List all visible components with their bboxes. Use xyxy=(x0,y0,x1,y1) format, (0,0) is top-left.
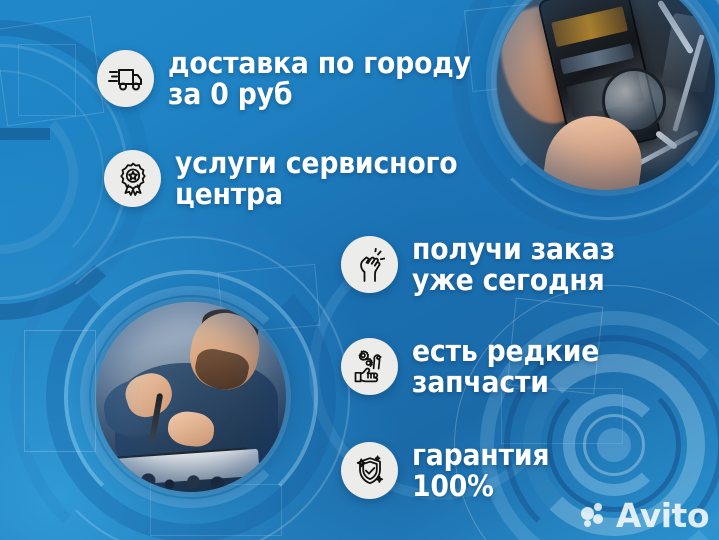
service-promo-banner: доставка по городу за 0 руб услуги серви… xyxy=(0,0,719,540)
background-square-top-left-2 xyxy=(18,44,76,116)
feature-same-day: получи заказ уже сегодня xyxy=(341,234,633,295)
feature-service-center-label: услуги сервисного центра xyxy=(175,148,457,209)
avito-watermark: Avito xyxy=(581,499,709,532)
feature-service-center: услуги сервисного центра xyxy=(104,148,482,209)
photo-square-left-1 xyxy=(24,330,96,452)
finger-snap-hand-icon xyxy=(341,236,398,293)
feature-warranty: гарантия 100% xyxy=(341,440,561,501)
feature-rare-parts-label: есть редкие запчасти xyxy=(412,336,599,397)
avito-brand-name: Avito xyxy=(616,499,709,532)
background-bar-top-left xyxy=(0,128,50,140)
phone-repair-photo xyxy=(497,0,715,190)
delivery-truck-icon xyxy=(97,50,154,107)
feature-same-day-label: получи заказ уже сегодня xyxy=(412,234,615,295)
gears-wrench-hand-icon xyxy=(341,338,398,395)
laptop-repair-photo xyxy=(96,302,286,492)
feature-delivery: доставка по городу за 0 руб xyxy=(97,48,497,109)
feature-delivery-label: доставка по городу за 0 руб xyxy=(168,48,471,109)
feature-warranty-label: гарантия 100% xyxy=(412,440,549,501)
shield-check-icon xyxy=(341,442,398,499)
avito-dots-logo xyxy=(581,503,609,529)
award-badge-icon xyxy=(104,150,161,207)
feature-rare-parts: есть редкие запчасти xyxy=(341,336,615,397)
